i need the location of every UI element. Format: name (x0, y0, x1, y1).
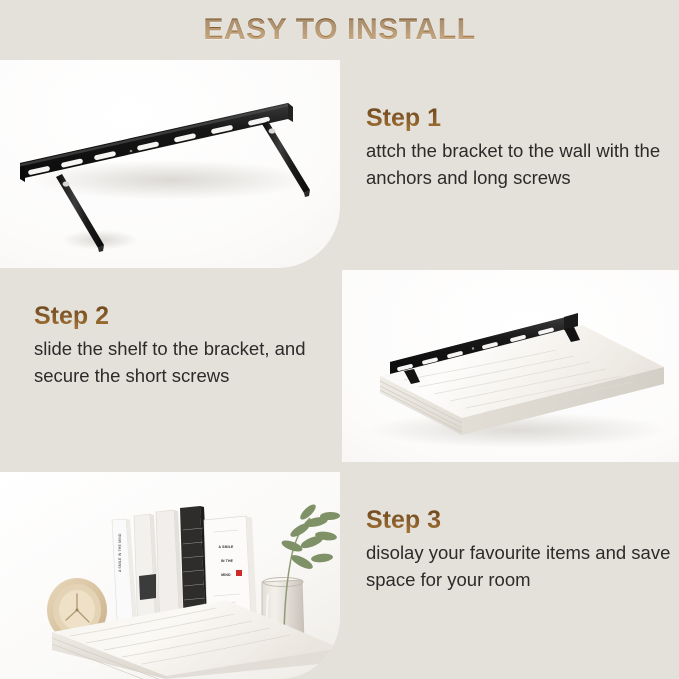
shelf-on-bracket-photo (342, 270, 679, 462)
book-5-red-mark (236, 570, 242, 576)
title-bar: EASY TO INSTALL (0, 0, 679, 60)
book-1-title: A SMILE IN THE MIND (118, 533, 122, 572)
step-1-text-block: Step 1 attch the bracket to the wall wit… (366, 104, 666, 191)
step-2-image-panel (342, 270, 679, 462)
book-5-line1: A SMILE (218, 545, 234, 549)
step-2-heading: Step 2 (34, 302, 334, 331)
book-4-title: A∩ (193, 517, 198, 521)
bracket-centre-hole (472, 347, 474, 349)
wall-bracket-photo (0, 60, 340, 268)
step-2-body: slide the shelf to the bracket, and secu… (34, 335, 334, 389)
rod-screw-left (63, 181, 70, 186)
step-3-text-block: Step 3 disolay your favourite items and … (366, 506, 671, 593)
bracket-centre-hole (130, 150, 133, 153)
rod-screw-right (269, 128, 276, 133)
page-title: EASY TO INSTALL (203, 13, 475, 47)
step-2-text-block: Step 2 slide the shelf to the bracket, a… (34, 302, 334, 389)
styled-shelf-photo: A SMILE IN THE MIND A∩ (0, 472, 340, 679)
book-5-line2: IN THE (221, 559, 234, 563)
step-3-body: disolay your favourite items and save sp… (366, 539, 671, 593)
book-5-line3: MIND (221, 573, 231, 577)
step-1-image-panel (0, 60, 340, 268)
step-3-image-panel: A SMILE IN THE MIND A∩ (0, 472, 340, 679)
book-2-accent (139, 574, 156, 600)
step-1-heading: Step 1 (366, 104, 666, 133)
clock-centre (76, 609, 79, 612)
step-3-heading: Step 3 (366, 506, 671, 535)
step-1-body: attch the bracket to the wall with the a… (366, 137, 666, 191)
